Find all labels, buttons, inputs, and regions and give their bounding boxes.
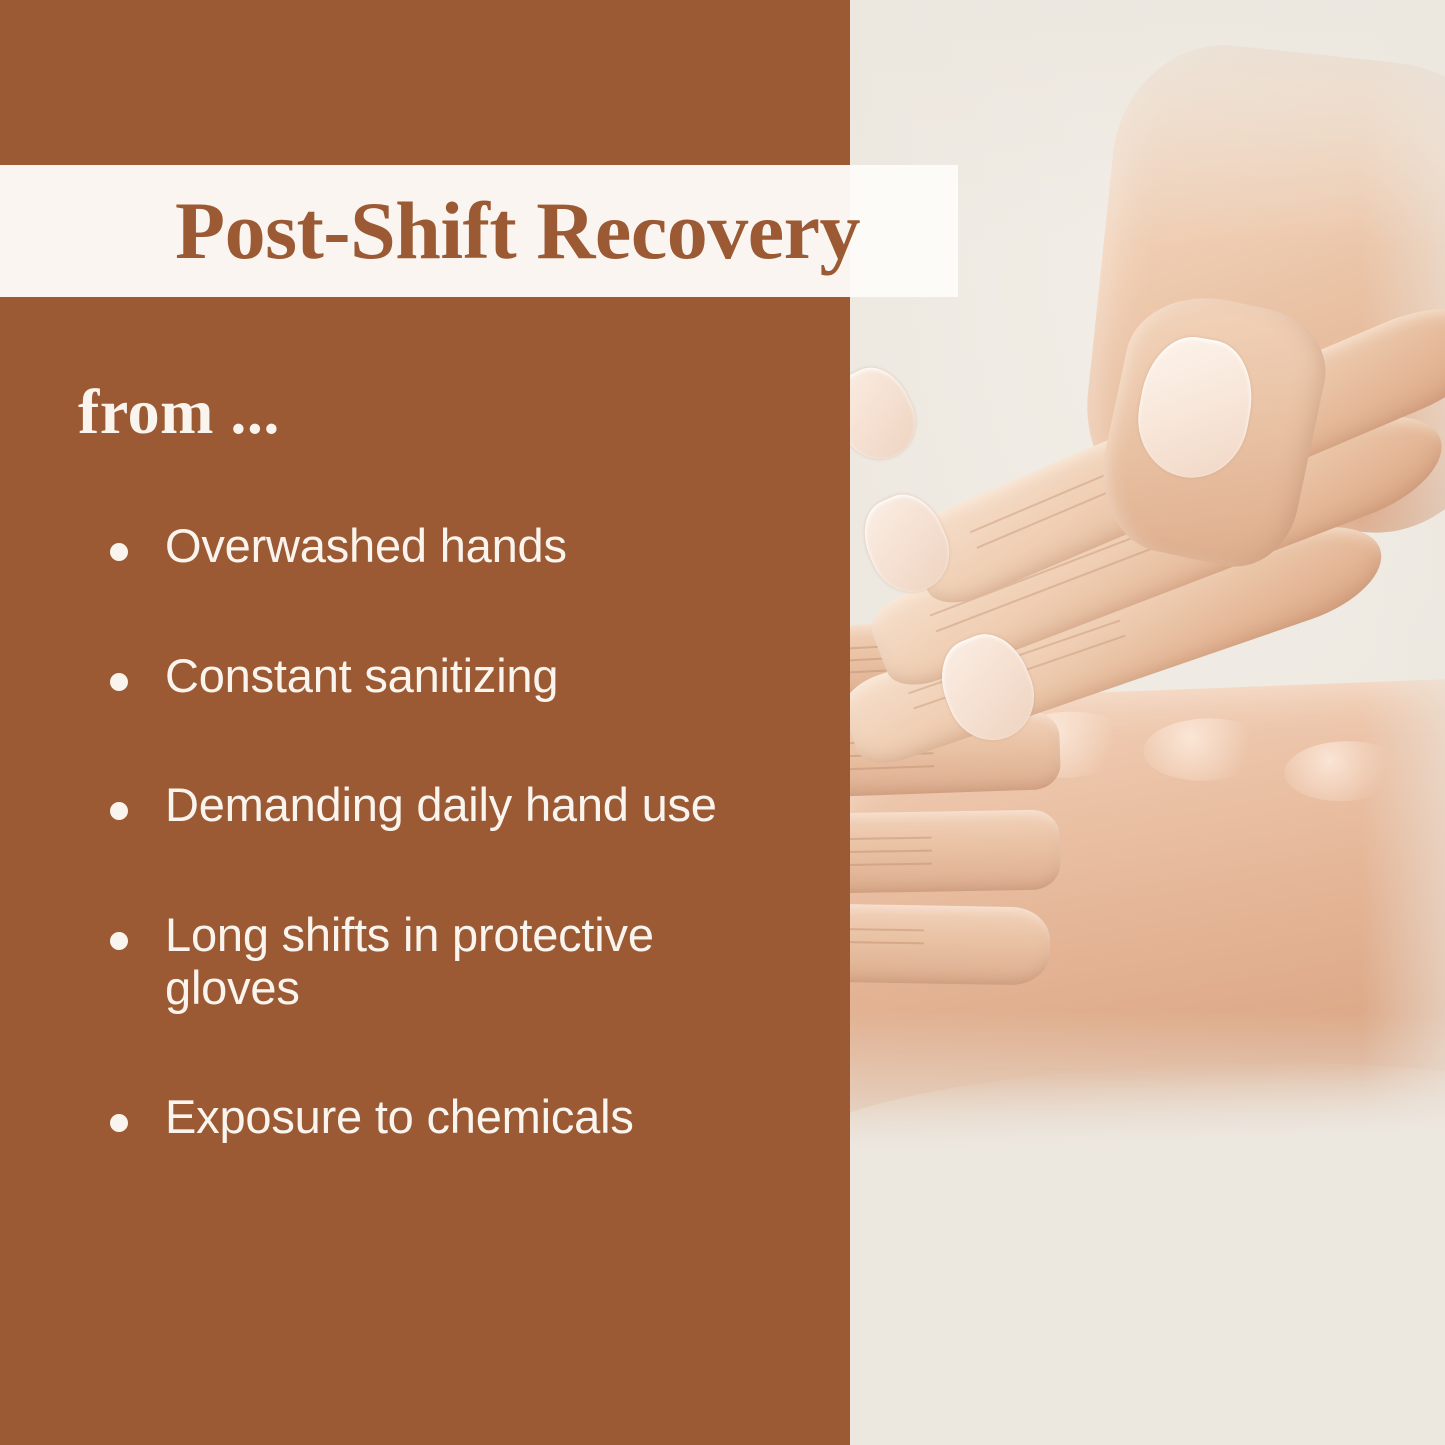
list-item-label: Constant sanitizing [165,649,558,702]
back-hand-finger-4 [850,902,1051,985]
bullet-dot-icon [110,932,128,950]
list-item: Exposure to chemicals [108,1091,758,1144]
concerns-list: Overwashed hands Constant sanitizing Dem… [108,520,758,1144]
page-title: Post-Shift Recovery [175,190,860,272]
poster-canvas: Post-Shift Recovery from ... Overwashed … [0,0,1445,1445]
knuckle-3 [1142,716,1269,783]
back-hand-finger-3 [850,809,1061,894]
bullet-dot-icon [110,673,128,691]
list-item: Constant sanitizing [108,650,758,703]
list-item: Overwashed hands [108,520,758,573]
bullet-dot-icon [110,1114,128,1132]
knuckle-4 [1283,739,1405,804]
list-item: Demanding daily hand use [108,779,758,832]
list-item-label: Long shifts in protective gloves [165,908,654,1014]
list-item-label: Overwashed hands [165,519,567,572]
list-item: Long shifts in protective gloves [108,909,758,1014]
title-band: Post-Shift Recovery [0,165,958,297]
fingernail-ring [850,356,928,471]
list-item-label: Demanding daily hand use [165,778,717,831]
bullet-dot-icon [110,543,128,561]
intro-lead-in: from ... [78,380,280,444]
bullet-dot-icon [110,802,128,820]
list-item-label: Exposure to chemicals [165,1090,634,1143]
